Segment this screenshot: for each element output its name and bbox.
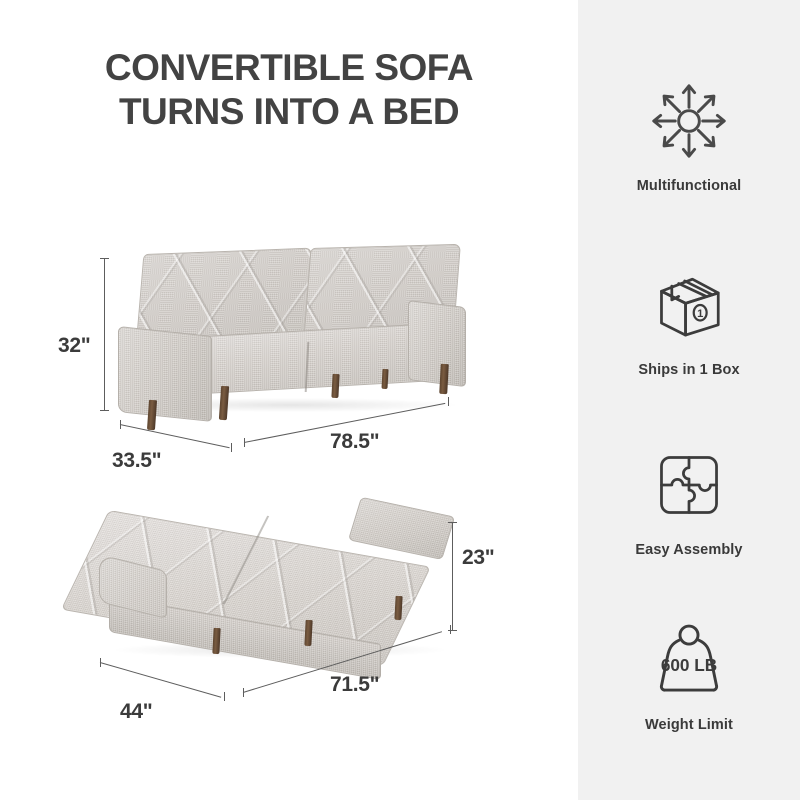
- fabric-texture: [119, 327, 211, 421]
- sofa-arm-right: [408, 300, 466, 387]
- fabric-texture: [409, 301, 465, 386]
- dimension-tick: [448, 522, 457, 523]
- multifunctional-arrows-icon: [646, 78, 732, 164]
- feature-label: Multifunctional: [578, 178, 800, 194]
- dimension-tick: [448, 397, 449, 406]
- puzzle-pieces-icon: [646, 442, 732, 528]
- dimension-tick: [100, 410, 109, 411]
- svg-text:1: 1: [697, 308, 703, 320]
- dimension-tick: [243, 688, 244, 697]
- dimension-tick: [244, 438, 245, 447]
- bed-leg: [304, 620, 312, 646]
- dimension-tick: [450, 625, 451, 634]
- bed-headrest-panel: [348, 497, 455, 560]
- sofa-arm-left: [118, 326, 212, 422]
- bed-width-label: 71.5": [330, 673, 379, 697]
- feature-easy-assembly: Easy Assembly: [578, 442, 800, 558]
- sofa-width-label: 78.5": [330, 430, 379, 454]
- infographic-page: CONVERTIBLE SOFA TURNS INTO A BED: [0, 0, 800, 800]
- feature-multifunctional: Multifunctional: [578, 78, 800, 194]
- weight-badge-text: 600 LB: [661, 655, 717, 675]
- dimension-tick: [100, 658, 101, 667]
- sofa-height-dimension-line: [104, 258, 105, 410]
- sofa-leg: [331, 374, 339, 398]
- bed-height-dimension-line: [452, 522, 453, 630]
- feature-weight-limit: 600 LB Weight Limit: [578, 617, 800, 733]
- sofa-leg: [439, 364, 449, 394]
- sofa-depth-label: 33.5": [112, 449, 161, 473]
- sofa-product-image: [110, 248, 470, 428]
- sofa-height-label: 32": [58, 334, 90, 358]
- feature-label: Easy Assembly: [578, 542, 800, 558]
- sofa-leg: [147, 400, 157, 430]
- bed-leg: [394, 596, 402, 620]
- bed-product-image: [95, 492, 465, 682]
- main-panel: CONVERTIBLE SOFA TURNS INTO A BED: [0, 0, 578, 800]
- dimension-tick: [224, 692, 225, 701]
- sofa-leg: [381, 369, 388, 389]
- fabric-texture: [349, 498, 454, 559]
- shipping-box-icon: 1: [646, 262, 732, 348]
- bed-height-label: 23": [462, 546, 494, 570]
- feature-label: Weight Limit: [578, 717, 800, 733]
- dimension-tick: [231, 443, 232, 452]
- features-sidebar: Multifunctional 1 Shi: [578, 0, 800, 800]
- page-title: CONVERTIBLE SOFA TURNS INTO A BED: [0, 46, 578, 134]
- feature-label: Ships in 1 Box: [578, 362, 800, 378]
- dimension-tick: [100, 258, 109, 259]
- bed-depth-label: 44": [120, 700, 152, 724]
- sofa-leg: [219, 386, 229, 420]
- weight-kettlebell-icon: 600 LB: [646, 617, 732, 703]
- bed-leg: [212, 628, 220, 654]
- dimension-tick: [120, 420, 121, 429]
- feature-ships-in-1-box: 1 Ships in 1 Box: [578, 262, 800, 378]
